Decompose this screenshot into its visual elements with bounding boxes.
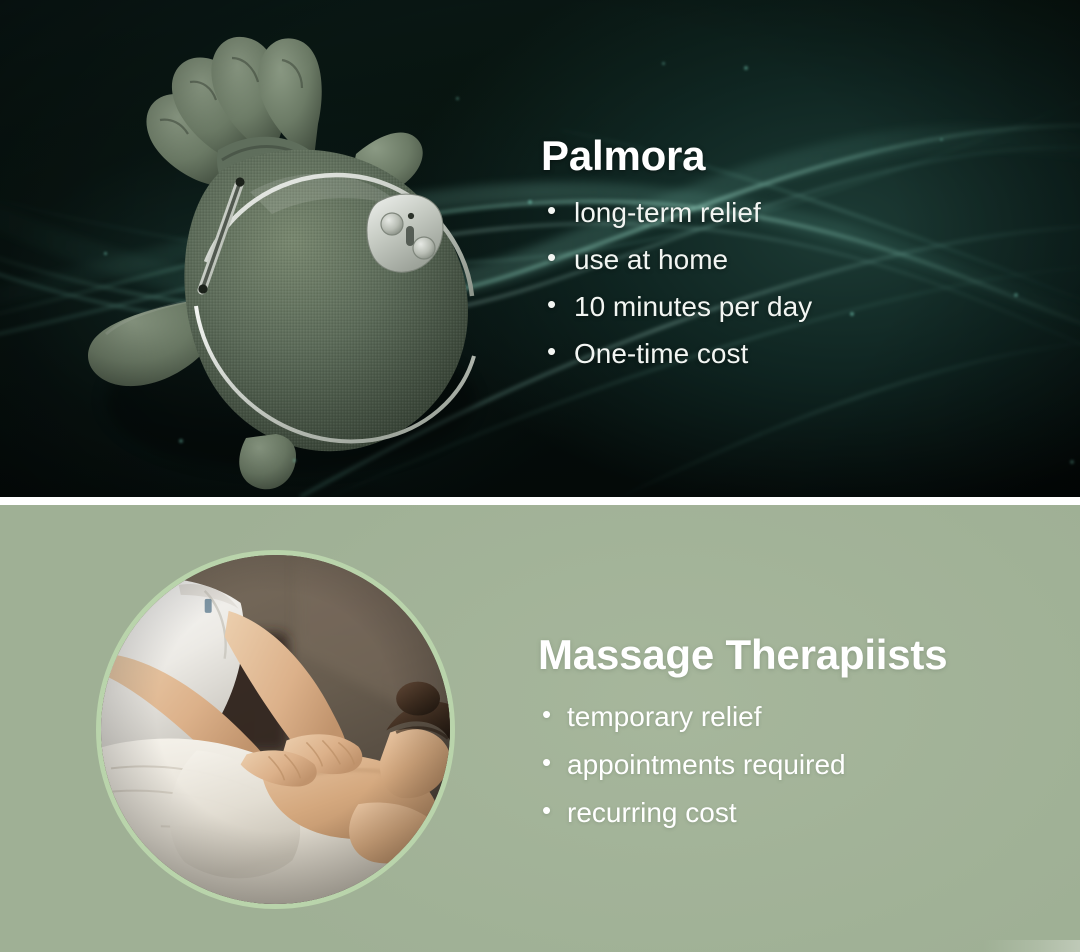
top-panel-content: Palmora long-term relief use at home 10 … — [541, 134, 1061, 387]
palmora-product-image — [0, 0, 540, 497]
list-item: long-term relief — [541, 199, 1061, 227]
list-item: use at home — [541, 246, 1061, 274]
device-mode-button — [381, 213, 403, 235]
list-item: appointments required — [538, 751, 1058, 779]
comparison-slide: Palmora long-term relief use at home 10 … — [0, 0, 1080, 952]
device-indicator-led — [408, 213, 414, 219]
bottom-panel: Massage Therapiists temporary relief app… — [0, 505, 1080, 952]
bottom-panel-content: Massage Therapiists temporary relief app… — [538, 633, 1058, 847]
product-benefit-list: long-term relief use at home 10 minutes … — [541, 199, 1061, 368]
list-item: recurring cost — [538, 799, 1058, 827]
list-item: One-time cost — [541, 340, 1061, 368]
product-title: Palmora — [541, 134, 1061, 178]
massage-therapy-photo — [96, 550, 455, 909]
top-panel: Palmora long-term relief use at home 10 … — [0, 0, 1080, 497]
panel-divider — [0, 497, 1080, 505]
corner-artifact — [984, 940, 1080, 952]
alternative-title: Massage Therapiists — [538, 633, 1058, 677]
device-power-button — [413, 237, 435, 259]
massage-scene-illustration — [101, 555, 450, 904]
list-item: temporary relief — [538, 703, 1058, 731]
list-item: 10 minutes per day — [541, 293, 1061, 321]
alternative-drawback-list: temporary relief appointments required r… — [538, 703, 1058, 827]
